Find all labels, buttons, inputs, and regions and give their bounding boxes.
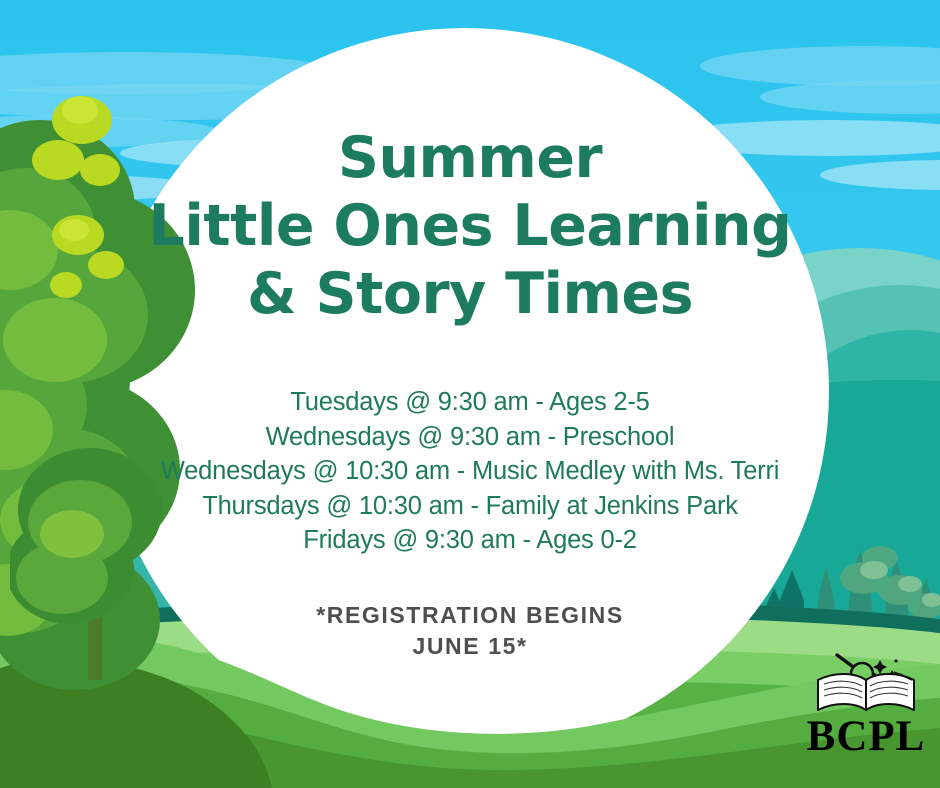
logo-wordmark: BCPL bbox=[798, 714, 934, 760]
poster-canvas: Summer Little Ones Learning & Story Time… bbox=[0, 0, 940, 788]
schedule-item: Wednesdays @ 9:30 am - Preschool bbox=[0, 420, 940, 455]
schedule-item: Wednesdays @ 10:30 am - Music Medley wit… bbox=[0, 454, 940, 489]
poster-title: Summer Little Ones Learning & Story Time… bbox=[0, 124, 940, 328]
open-book-icon bbox=[804, 650, 928, 720]
schedule-item: Fridays @ 9:30 am - Ages 0-2 bbox=[0, 523, 940, 558]
title-line-1: Summer bbox=[0, 124, 940, 192]
title-line-2: Little Ones Learning bbox=[0, 192, 940, 260]
bcpl-logo: BCPL bbox=[798, 652, 934, 770]
registration-line-1: *REGISTRATION BEGINS bbox=[0, 600, 940, 631]
schedule-item: Thursdays @ 10:30 am - Family at Jenkins… bbox=[0, 489, 940, 524]
schedule-item: Tuesdays @ 9:30 am - Ages 2-5 bbox=[0, 385, 940, 420]
title-line-3: & Story Times bbox=[0, 260, 940, 328]
schedule-list: Tuesdays @ 9:30 am - Ages 2-5 Wednesdays… bbox=[0, 385, 940, 558]
